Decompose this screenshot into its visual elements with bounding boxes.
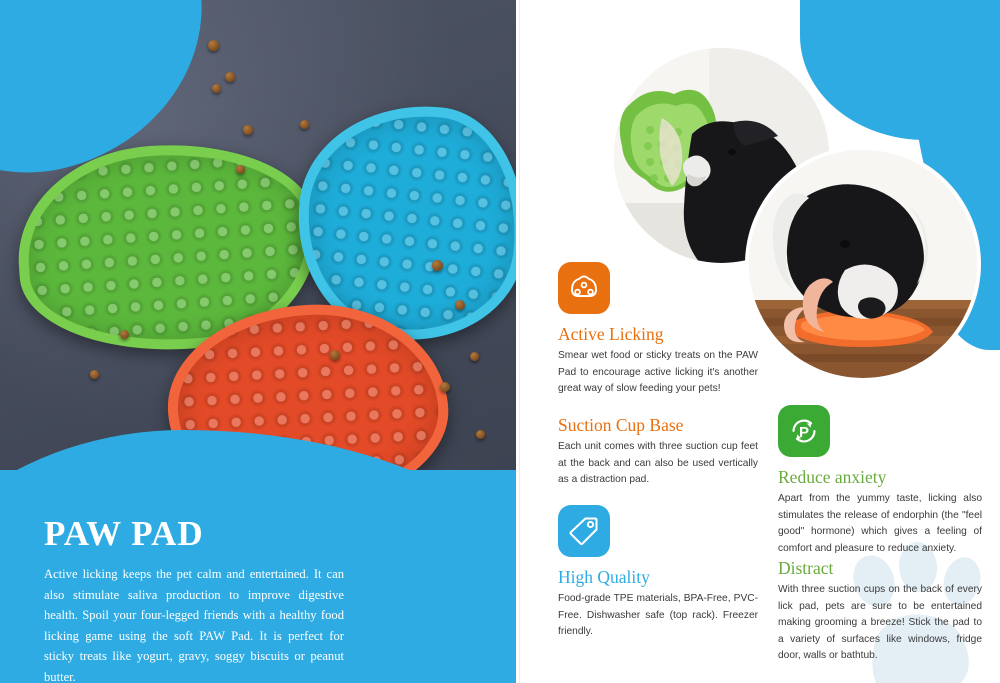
feature-active-licking: Active Licking Smear wet food or sticky …: [558, 262, 758, 398]
kibble: [225, 72, 235, 82]
kibble: [330, 350, 340, 360]
feature-distract: Distract With three suction cups on the …: [778, 548, 982, 665]
lick-pad-icon: [558, 262, 610, 314]
feature-body: Food-grade TPE materials, BPA-Free, PVC-…: [558, 591, 758, 641]
kibble: [208, 40, 219, 51]
feature-title: Active Licking: [558, 324, 758, 345]
price-tag-glyph: [567, 514, 601, 548]
kibble: [440, 382, 450, 392]
feature-body: Smear wet food or sticky treats on the P…: [558, 348, 758, 398]
page-description: Active licking keeps the pet calm and en…: [44, 564, 344, 683]
right-panel: Active Licking Smear wet food or sticky …: [534, 0, 1000, 683]
left-text-block: PAW PAD Active licking keeps the pet cal…: [44, 516, 344, 683]
kibble: [300, 120, 309, 129]
lick-pad-glyph: [567, 271, 601, 305]
svg-text:P: P: [799, 424, 809, 441]
panel-divider: [519, 0, 520, 683]
feature-title: Distract: [778, 558, 982, 579]
kibble: [236, 165, 245, 174]
kibble: [432, 260, 443, 271]
brochure-page: PAW PAD Active licking keeps the pet cal…: [0, 0, 1000, 683]
feature-body: Each unit comes with three suction cup f…: [558, 439, 758, 489]
photo-dog-orange-mat: [749, 150, 977, 378]
kibble: [476, 430, 485, 439]
kibble: [243, 125, 253, 135]
kibble: [90, 370, 99, 379]
feature-high-quality: High Quality Food-grade TPE materials, B…: [558, 505, 758, 641]
feature-reduce-anxiety: P Reduce anxiety Apart from the yummy ta…: [778, 405, 982, 557]
price-tag-icon: [558, 505, 610, 557]
kibble: [120, 330, 129, 339]
kibble: [212, 84, 221, 93]
feature-title: Suction Cup Base: [558, 415, 758, 436]
page-title: PAW PAD: [44, 516, 344, 551]
left-panel: PAW PAD Active licking keeps the pet cal…: [0, 0, 516, 683]
recycle-p-glyph: P: [787, 414, 821, 448]
feature-title: Reduce anxiety: [778, 467, 982, 488]
kibble: [455, 300, 465, 310]
recycle-p-icon: P: [778, 405, 830, 457]
feature-body: With three suction cups on the back of e…: [778, 582, 982, 665]
feature-suction-cup-base: Suction Cup Base Each unit comes with th…: [558, 405, 758, 489]
dog-orange-mat-illustration: [749, 150, 977, 378]
kibble: [470, 352, 479, 361]
feature-title: High Quality: [558, 567, 758, 588]
